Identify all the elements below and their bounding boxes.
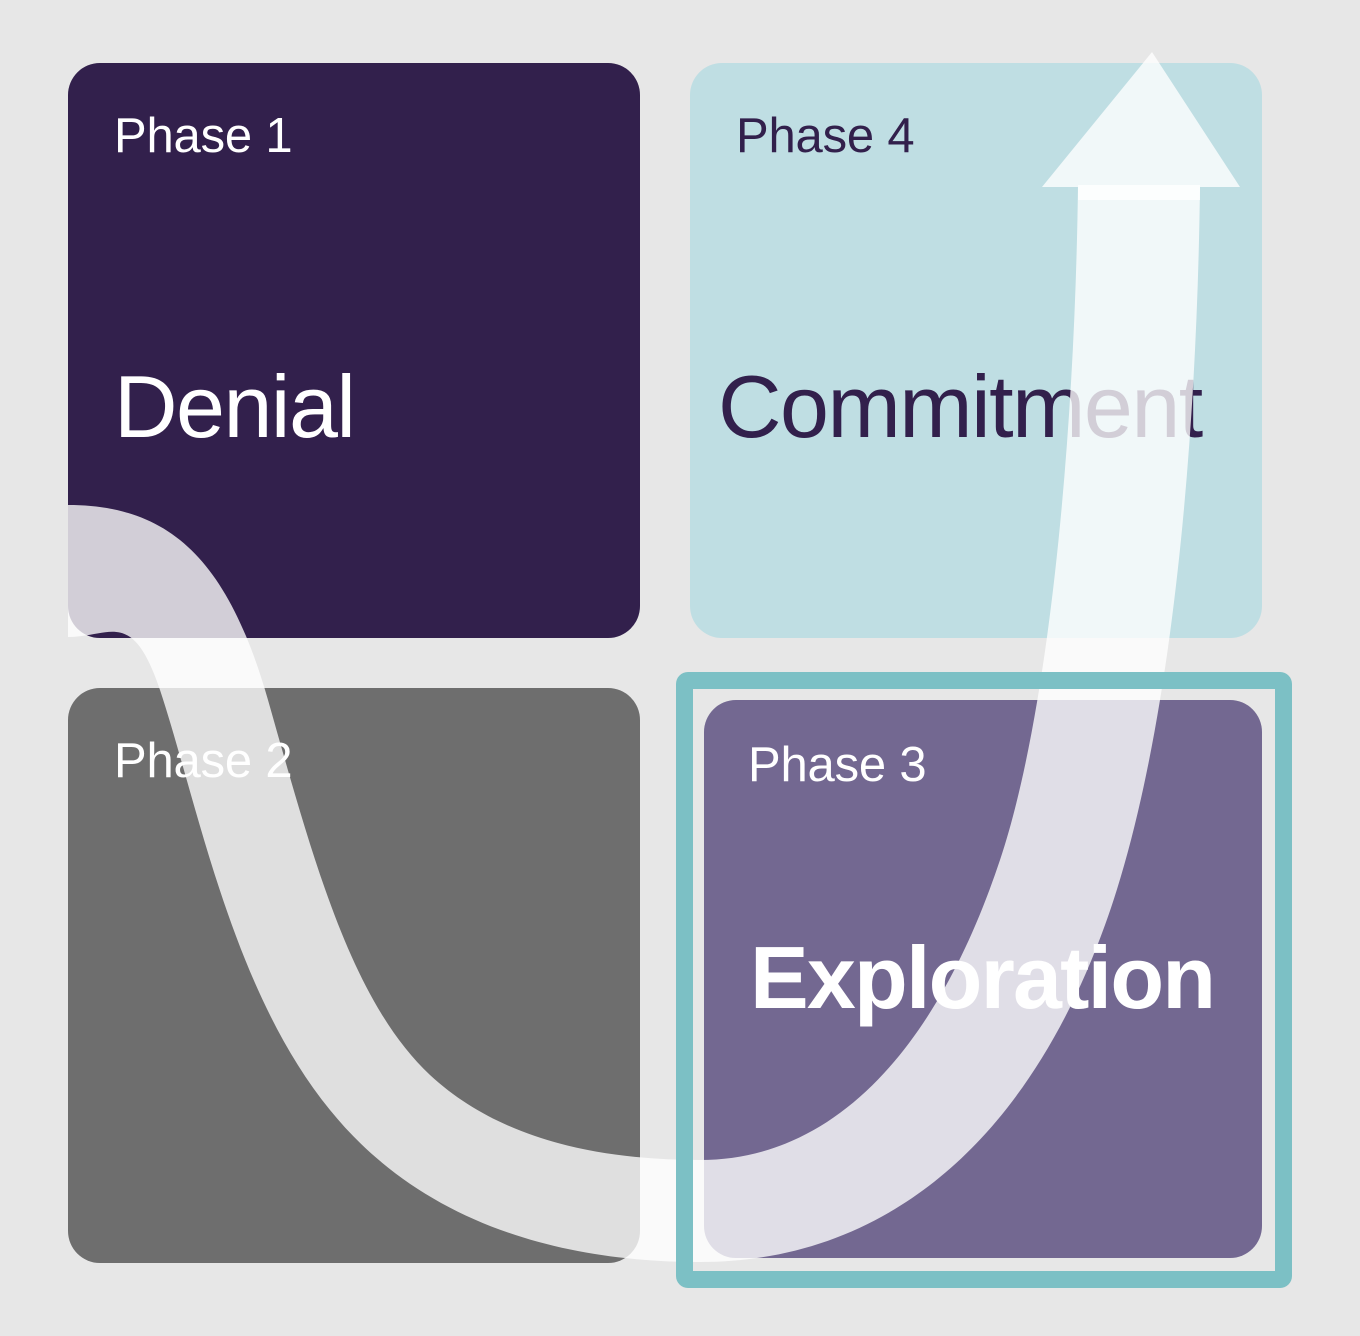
card-phase-2[interactable]: Phase 2 Resistance [68, 688, 640, 1263]
card-phase-4[interactable]: Phase 4 Commitment [690, 63, 1262, 638]
phase-title-1: Denial [114, 361, 354, 453]
phase-label-2: Phase 2 [114, 736, 594, 787]
card-phase-4-content: Phase 4 Commitment [690, 63, 1262, 638]
card-phase-1-content: Phase 1 Denial [68, 63, 640, 638]
diagram-canvas: Phase 1 Denial Phase 2 Resistance Phase … [0, 0, 1360, 1336]
card-phase-3-selection-ring [676, 672, 1292, 1288]
card-phase-1[interactable]: Phase 1 Denial [68, 63, 640, 638]
card-phase-2-content: Phase 2 Resistance [68, 688, 640, 1263]
phase-label-1: Phase 1 [114, 111, 594, 162]
phase-title-4: Commitment [718, 361, 1202, 453]
phase-label-4: Phase 4 [736, 111, 1216, 162]
